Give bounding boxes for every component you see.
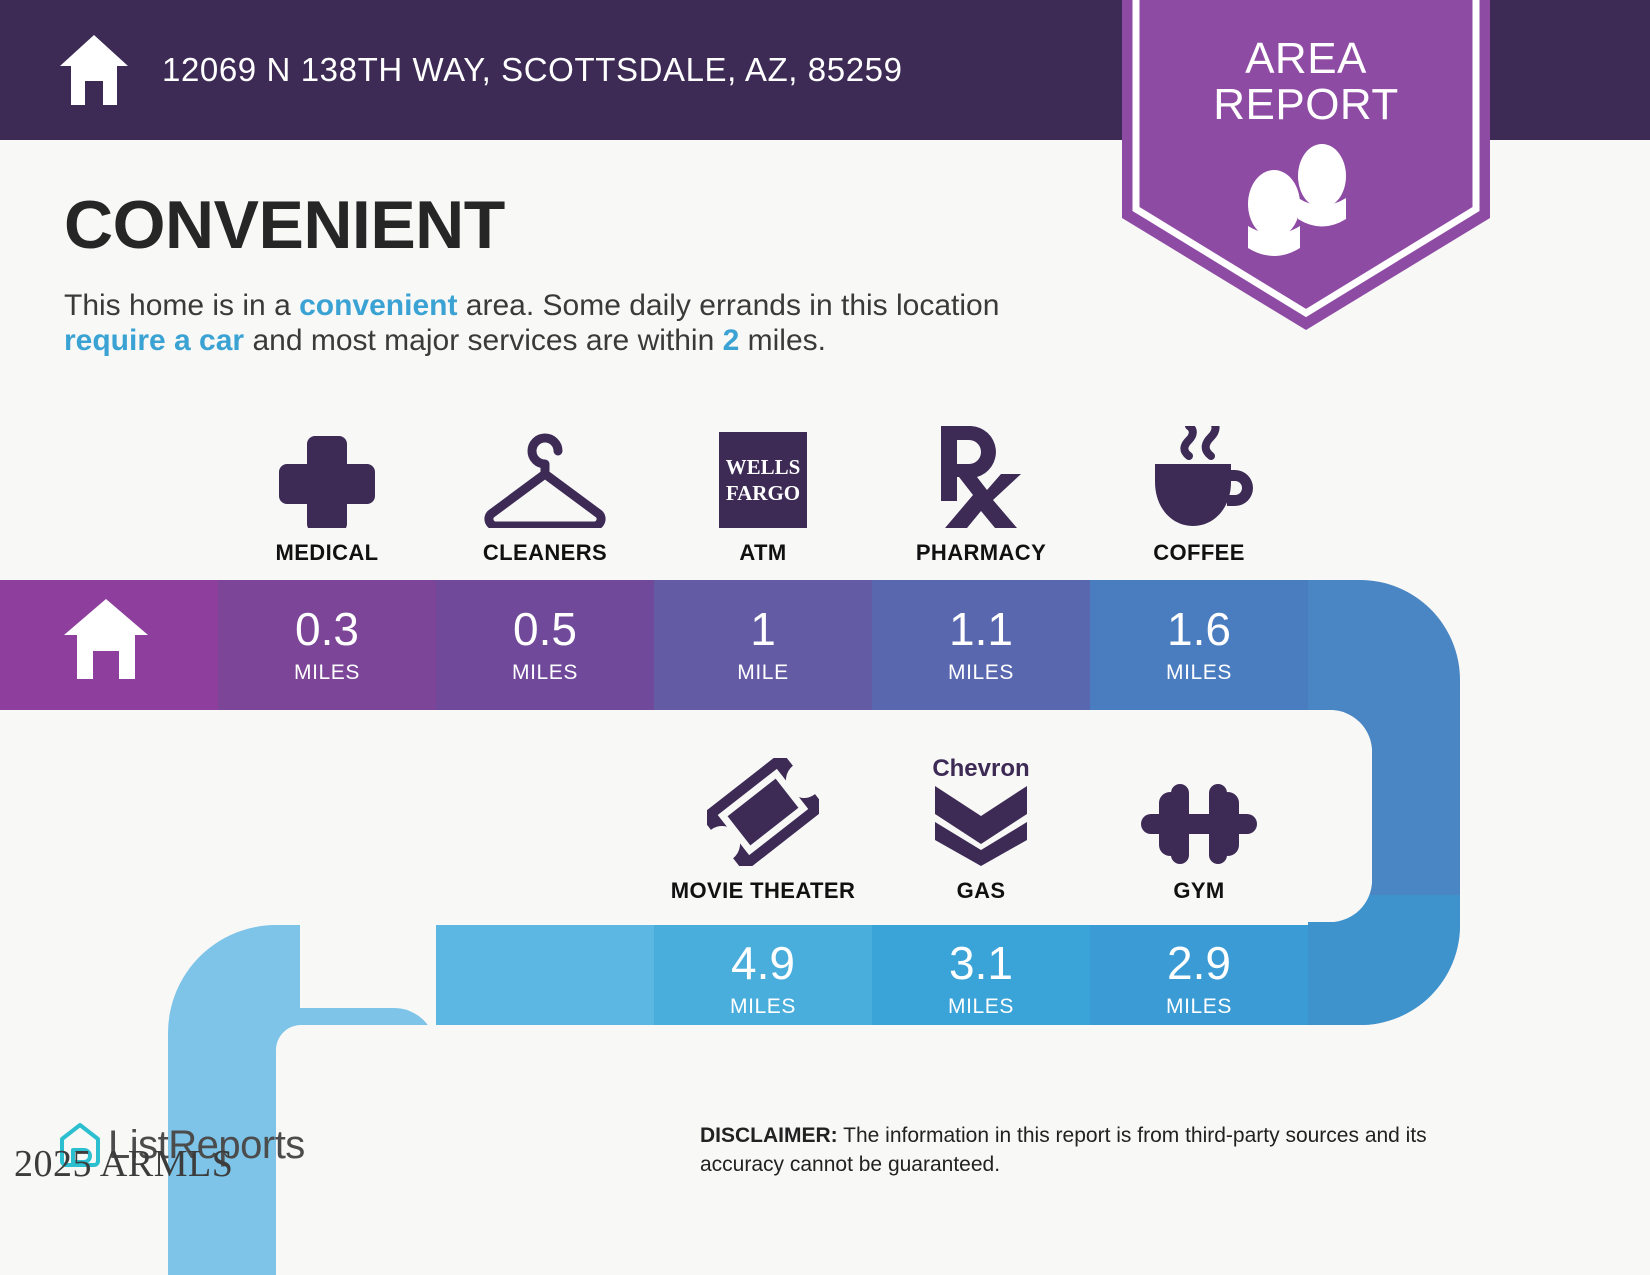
value-medical-number: 0.3 [218, 606, 436, 652]
badge-title: AREA REPORT [1122, 36, 1490, 128]
icon-label-pharmacy: PHARMACY [872, 540, 1090, 566]
value-pharmacy-number: 1.1 [872, 606, 1090, 652]
value-movie-theater: 4.9 MILES [654, 940, 872, 1019]
badge-line-1: AREA [1122, 36, 1490, 82]
icon-label-movie-theater: MOVIE THEATER [654, 878, 872, 904]
value-coffee-number: 1.6 [1090, 606, 1308, 652]
value-cleaners-number: 0.5 [436, 606, 654, 652]
icon-cell-atm: WELLS FARGO ATM [654, 420, 872, 566]
icon-label-atm: ATM [654, 540, 872, 566]
armls-watermark: 2025 ARMLS [14, 1142, 233, 1186]
value-medical: 0.3 MILES [218, 606, 436, 685]
value-pharmacy: 1.1 MILES [872, 606, 1090, 685]
icon-label-coffee: COFFEE [1090, 540, 1308, 566]
value-gym: 2.9 MILES [1090, 940, 1308, 1019]
area-report-badge: AREA REPORT [1122, 0, 1490, 330]
value-cleaners: 0.5 MILES [436, 606, 654, 685]
value-gym-unit: MILES [1090, 995, 1308, 1019]
dumbbell-icon [1090, 758, 1308, 866]
value-atm: 1 MILE [654, 606, 872, 685]
icon-label-gas: GAS [872, 878, 1090, 904]
value-gas-unit: MILES [872, 995, 1090, 1019]
clothes-hanger-icon [436, 420, 654, 528]
badge-line-2: REPORT [1122, 82, 1490, 128]
disclaimer: DISCLAIMER: The information in this repo… [700, 1122, 1510, 1180]
coffee-cup-icon [1090, 420, 1308, 528]
rx-prescription-icon [872, 420, 1090, 528]
svg-text:FARGO: FARGO [726, 481, 800, 505]
icon-cell-coffee: COFFEE [1090, 420, 1308, 566]
movie-ticket-icon [654, 758, 872, 866]
value-gas: 3.1 MILES [872, 940, 1090, 1019]
svg-text:Chevron: Chevron [932, 755, 1029, 782]
icon-cell-cleaners: CLEANERS [436, 420, 654, 566]
chevron-logo-icon: Chevron [872, 758, 1090, 866]
icon-label-gym: GYM [1090, 878, 1308, 904]
icon-label-medical: MEDICAL [218, 540, 436, 566]
svg-text:WELLS: WELLS [726, 455, 801, 479]
icon-cell-pharmacy: PHARMACY [872, 420, 1090, 566]
medical-cross-icon [218, 420, 436, 528]
value-movie-theater-number: 4.9 [654, 940, 872, 986]
disclaimer-label: DISCLAIMER: [700, 1124, 838, 1147]
value-gas-number: 3.1 [872, 940, 1090, 986]
value-pharmacy-unit: MILES [872, 661, 1090, 685]
value-gym-number: 2.9 [1090, 940, 1308, 986]
value-atm-unit: MILE [654, 661, 872, 685]
icon-label-cleaners: CLEANERS [436, 540, 654, 566]
value-medical-unit: MILES [218, 661, 436, 685]
icon-cell-movie-theater: MOVIE THEATER [654, 758, 872, 904]
icon-cell-medical: MEDICAL [218, 420, 436, 566]
value-coffee: 1.6 MILES [1090, 606, 1308, 685]
track-home-icon [60, 597, 152, 681]
value-cleaners-unit: MILES [436, 661, 654, 685]
icon-cell-gym: GYM [1090, 758, 1308, 904]
icon-cell-gas: Chevron GAS [872, 758, 1090, 904]
value-coffee-unit: MILES [1090, 661, 1308, 685]
value-atm-number: 1 [654, 606, 872, 652]
wells-fargo-logo-icon: WELLS FARGO [654, 420, 872, 528]
area-report-page: 12069 N 138TH WAY, SCOTTSDALE, AZ, 85259… [0, 0, 1650, 1275]
track-segment-lead [436, 925, 654, 1025]
value-movie-theater-unit: MILES [654, 995, 872, 1019]
